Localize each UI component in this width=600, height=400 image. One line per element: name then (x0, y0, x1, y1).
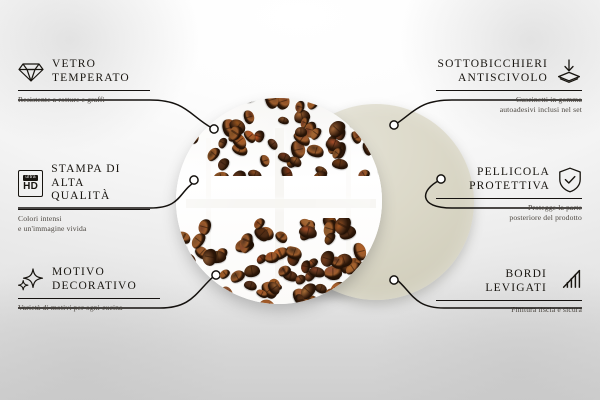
feature-title: VETRO TEMPERATO (52, 58, 130, 85)
feature-subtitle: Resistente a rotture e graffi (18, 95, 150, 105)
feature-subtitle: Protegge la parte posteriore del prodott… (436, 203, 582, 223)
feature-title: SOTTOBICCHIERI ANTISCIVOLO (438, 58, 548, 85)
feature-rule (18, 298, 160, 299)
feature-title: STAMPA DI ALTA QUALITÀ (51, 163, 150, 204)
feature-rule (436, 198, 582, 199)
feature-motivo-decorativo: MOTIVO DECORATIVO Varietà di motivi per … (18, 266, 160, 313)
feature-subtitle: Varietà di motivi per ogni cucina (18, 303, 160, 313)
press-down-pad-icon (556, 59, 582, 85)
infographic-canvas: VETRO TEMPERATO Resistente a rotture e g… (0, 0, 600, 400)
feature-bordi-levigati: BORDI LEVIGATI Finitura liscia e sicura (436, 268, 582, 315)
connector-dot-left-2 (190, 176, 198, 184)
feature-pellicola-protettiva: PELLICOLA PROTETTIVA Protegge la parte p… (436, 166, 582, 223)
connector-dot-right-1 (390, 121, 398, 129)
feature-title: PELLICOLA PROTETTIVA (469, 166, 550, 193)
feature-sottobicchieri-antiscivolo: SOTTOBICCHIERI ANTISCIVOLO Cuscinetti in… (436, 58, 582, 115)
connector-dot-left-1 (210, 125, 218, 133)
feature-rule (18, 90, 150, 91)
sparkles-icon (18, 268, 44, 292)
ultra-hd-icon: ultra HD (18, 170, 43, 197)
shield-check-icon (558, 167, 582, 193)
ultra-hd-badge-small: ultra (23, 175, 37, 181)
diamond-icon (18, 61, 44, 83)
feature-subtitle: Cuscinetti in gomma autoadesivi inclusi … (436, 95, 582, 115)
polished-edges-icon (555, 269, 582, 294)
feature-rule (18, 209, 150, 210)
feature-vetro-temperato: VETRO TEMPERATO Resistente a rotture e g… (18, 58, 150, 105)
coffee-bean (295, 127, 307, 137)
connector-dot-right-3 (390, 276, 398, 284)
feature-title: MOTIVO DECORATIVO (52, 266, 137, 293)
coffee-bean (264, 251, 279, 263)
feature-rule (436, 90, 582, 91)
feature-subtitle: Finitura liscia e sicura (436, 305, 582, 315)
feature-stampa-alta-qualita: ultra HD STAMPA DI ALTA QUALITÀ Colori i… (18, 163, 150, 234)
feature-subtitle: Colori intensi e un'immagine vivida (18, 214, 150, 234)
ultra-hd-badge-large: HD (23, 182, 38, 192)
feature-rule (436, 300, 582, 301)
feature-title: BORDI LEVIGATI (485, 268, 547, 295)
